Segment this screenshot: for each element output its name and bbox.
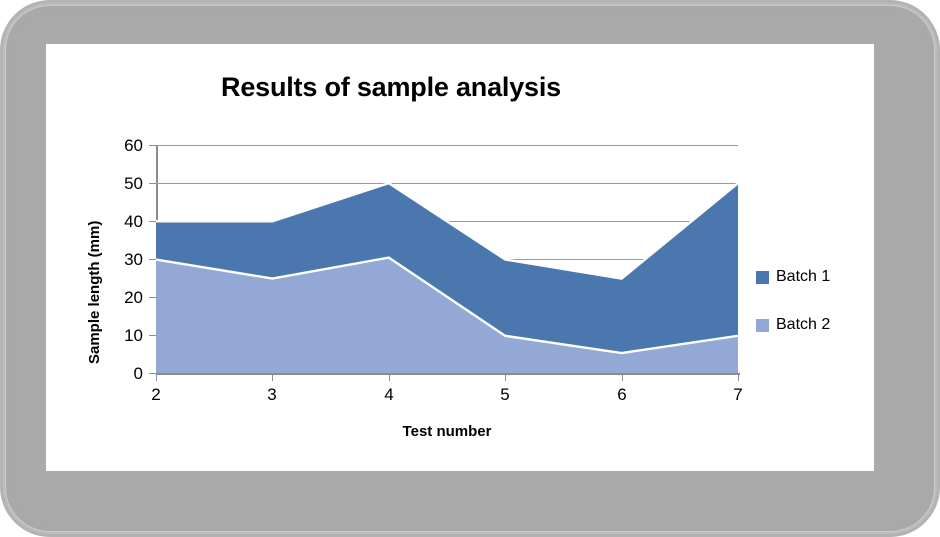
chart-legend: Batch 1 Batch 2	[752, 44, 874, 471]
y-tick-label-60: 60	[99, 137, 143, 154]
x-axis-line	[156, 373, 740, 375]
x-tick-label-3: 3	[252, 385, 292, 405]
x-tick-label-4: 4	[369, 385, 409, 405]
chart-panel: Results of sample analysis Sample length…	[46, 44, 874, 471]
y-tick-label-10: 10	[99, 327, 143, 344]
legend-swatch-batch-1	[756, 271, 769, 284]
y-tick-label-20: 20	[99, 289, 143, 306]
area-chart-svg	[156, 145, 738, 374]
x-tick-label-5: 5	[485, 385, 525, 405]
x-tick-3	[272, 374, 273, 381]
legend-item-batch-1[interactable]: Batch 1	[756, 268, 830, 286]
x-tick-6	[622, 374, 623, 381]
x-tick-label-6: 6	[602, 385, 642, 405]
x-tick-5	[505, 374, 506, 381]
y-tick-60	[149, 145, 156, 146]
legend-label-batch-1: Batch 1	[776, 268, 830, 286]
y-tick-50	[149, 183, 156, 184]
x-axis-title: Test number	[297, 423, 597, 440]
y-tick-label-40: 40	[99, 213, 143, 230]
x-tick-2	[156, 374, 157, 381]
x-tick-4	[389, 374, 390, 381]
plot-area	[156, 145, 738, 373]
y-tick-label-50: 50	[99, 175, 143, 192]
y-tick-10	[149, 335, 156, 336]
screenshot-frame: Results of sample analysis Sample length…	[0, 0, 940, 537]
legend-swatch-batch-2	[756, 319, 769, 332]
legend-item-batch-2[interactable]: Batch 2	[756, 316, 830, 334]
y-tick-label-30: 30	[99, 251, 143, 268]
y-tick-40	[149, 221, 156, 222]
y-tick-20	[149, 297, 156, 298]
x-tick-label-2: 2	[136, 385, 176, 405]
y-tick-0	[149, 373, 156, 374]
x-tick-7	[738, 374, 739, 381]
y-tick-label-0: 0	[99, 365, 143, 382]
legend-label-batch-2: Batch 2	[776, 316, 830, 334]
y-tick-30	[149, 259, 156, 260]
chart-title: Results of sample analysis	[46, 72, 736, 103]
